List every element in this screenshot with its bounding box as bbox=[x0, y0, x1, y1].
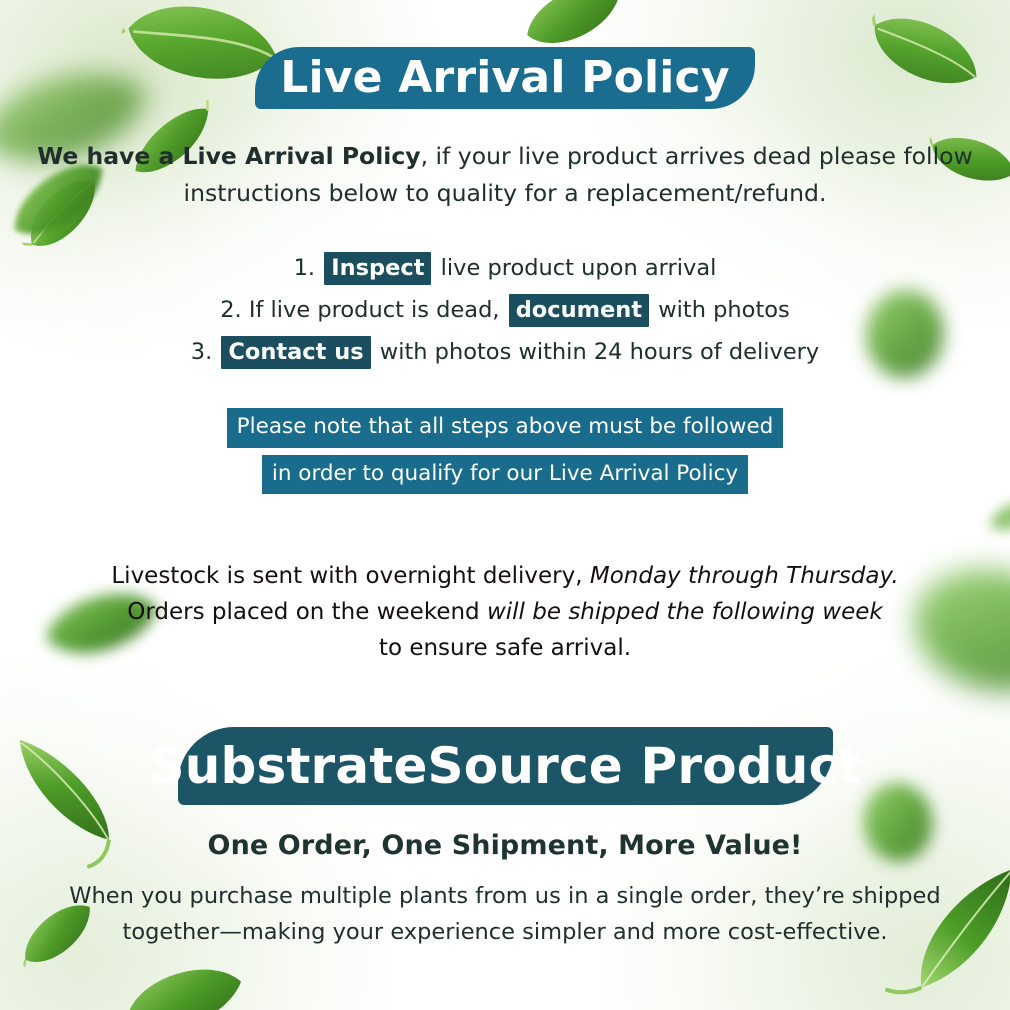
step-highlight: Contact us bbox=[221, 336, 370, 369]
list-item: 2. If live product is dead, document wit… bbox=[0, 289, 1010, 331]
livestock-line-1-emphasis: Monday through Thursday. bbox=[590, 563, 899, 589]
livestock-line-3: to ensure safe arrival. bbox=[0, 630, 1010, 666]
step-text-before bbox=[212, 339, 219, 365]
step-number: 3. bbox=[191, 339, 212, 365]
live-arrival-policy-infographic: Live Arrival Policy We have a Live Arriv… bbox=[0, 0, 1010, 1010]
steps-list: 1. Inspect live product upon arrival 2. … bbox=[0, 247, 1010, 373]
live-arrival-policy-banner: Live Arrival Policy bbox=[255, 47, 755, 109]
intro-line-2: instructions below to quality for a repl… bbox=[0, 175, 1010, 212]
list-item: 1. Inspect live product upon arrival bbox=[0, 247, 1010, 289]
policy-note-block: Please note that all steps above must be… bbox=[0, 408, 1010, 501]
livestock-line-2-emphasis: will be shipped the following week bbox=[487, 599, 883, 625]
policy-note-line-2: in order to qualify for our Live Arrival… bbox=[262, 455, 748, 495]
step-highlight: Inspect bbox=[324, 252, 431, 285]
product-subheading: One Order, One Shipment, More Value! bbox=[0, 830, 1010, 861]
livestock-shipping-paragraph: Livestock is sent with overnight deliver… bbox=[0, 558, 1010, 666]
step-text-after: with photos bbox=[651, 297, 790, 323]
step-text-before: If live product is dead, bbox=[242, 297, 507, 323]
intro-line-1-rest: , if your live product arrives dead plea… bbox=[421, 142, 973, 170]
product-body-line-1: When you purchase multiple plants from u… bbox=[0, 878, 1010, 914]
livestock-line-2: Orders placed on the weekend will be shi… bbox=[0, 594, 1010, 630]
step-highlight: document bbox=[509, 294, 649, 327]
policy-note-line-1: Please note that all steps above must be… bbox=[227, 408, 784, 448]
intro-bold-lead: We have a Live Arrival Policy bbox=[37, 142, 420, 170]
step-text-after: with photos within 24 hours of delivery bbox=[373, 339, 820, 365]
livestock-line-1: Livestock is sent with overnight deliver… bbox=[0, 558, 1010, 594]
live-arrival-policy-title: Live Arrival Policy bbox=[280, 56, 729, 100]
livestock-line-1-text: Livestock is sent with overnight deliver… bbox=[111, 563, 590, 589]
step-number: 1. bbox=[294, 255, 315, 281]
product-body-paragraph: When you purchase multiple plants from u… bbox=[0, 878, 1010, 950]
intro-paragraph: We have a Live Arrival Policy, if your l… bbox=[0, 138, 1010, 212]
content-root: Live Arrival Policy We have a Live Arriv… bbox=[0, 0, 1010, 1010]
product-body-line-2: together—making your experience simpler … bbox=[0, 914, 1010, 950]
substratesource-product-banner: SubstrateSource Product bbox=[178, 727, 833, 805]
intro-line-1: We have a Live Arrival Policy, if your l… bbox=[0, 138, 1010, 175]
step-text-after: live product upon arrival bbox=[433, 255, 716, 281]
list-item: 3. Contact us with photos within 24 hour… bbox=[0, 331, 1010, 373]
substratesource-product-title: SubstrateSource Product bbox=[148, 741, 862, 791]
livestock-line-2-text: Orders placed on the weekend bbox=[127, 599, 487, 625]
step-number: 2. bbox=[220, 297, 241, 323]
